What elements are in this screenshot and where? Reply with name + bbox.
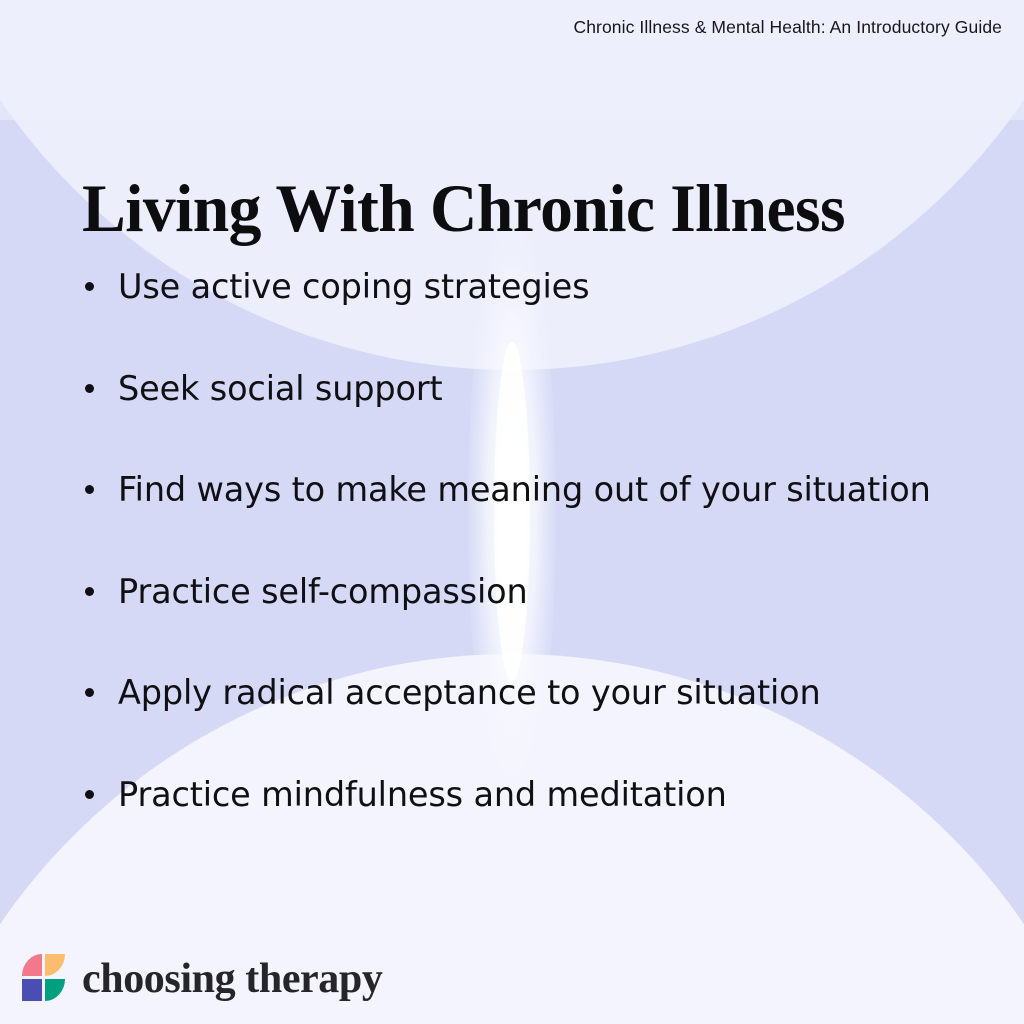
list-item: Apply radical acceptance to your situati… (78, 664, 983, 722)
logo-quadrant-bottom-left (22, 979, 42, 1001)
bullet-dot-icon (85, 587, 94, 596)
list-item: Find ways to make meaning out of your si… (78, 461, 983, 519)
list-item-label: Apply radical acceptance to your situati… (118, 673, 821, 712)
bullet-dot-icon (85, 282, 94, 291)
logo-quadrant-top-right (45, 954, 65, 976)
list-item-label: Use active coping strategies (118, 267, 589, 306)
choosing-therapy-quadrant-logo-icon (22, 954, 68, 1004)
header-eyebrow-text: Chronic Illness & Mental Health: An Intr… (573, 17, 1002, 38)
bullet-dot-icon (85, 384, 94, 393)
list-item-label: Seek social support (118, 369, 442, 408)
bullet-dot-icon (85, 790, 94, 799)
card-content: Chronic Illness & Mental Health: An Intr… (0, 0, 1024, 1024)
list-item-label: Find ways to make meaning out of your si… (118, 470, 931, 509)
bullet-dot-icon (85, 688, 94, 697)
page-title: Living With Chronic Illness (82, 174, 845, 243)
list-item: Practice self-compassion (78, 563, 983, 621)
list-item-label: Practice mindfulness and meditation (118, 775, 727, 814)
list-item: Seek social support (78, 360, 983, 418)
list-item-label: Practice self-compassion (118, 572, 528, 611)
brand-logo[interactable]: choosing therapy (22, 954, 382, 1004)
tips-list: Use active coping strategies Seek social… (78, 258, 983, 824)
logo-wordmark: choosing therapy (82, 958, 382, 1000)
list-item: Practice mindfulness and meditation (78, 766, 983, 824)
list-item: Use active coping strategies (78, 258, 983, 316)
logo-quadrant-top-left (22, 954, 42, 976)
infographic-card: Chronic Illness & Mental Health: An Intr… (0, 0, 1024, 1024)
bullet-dot-icon (85, 485, 94, 494)
logo-quadrant-bottom-right (45, 979, 65, 1001)
